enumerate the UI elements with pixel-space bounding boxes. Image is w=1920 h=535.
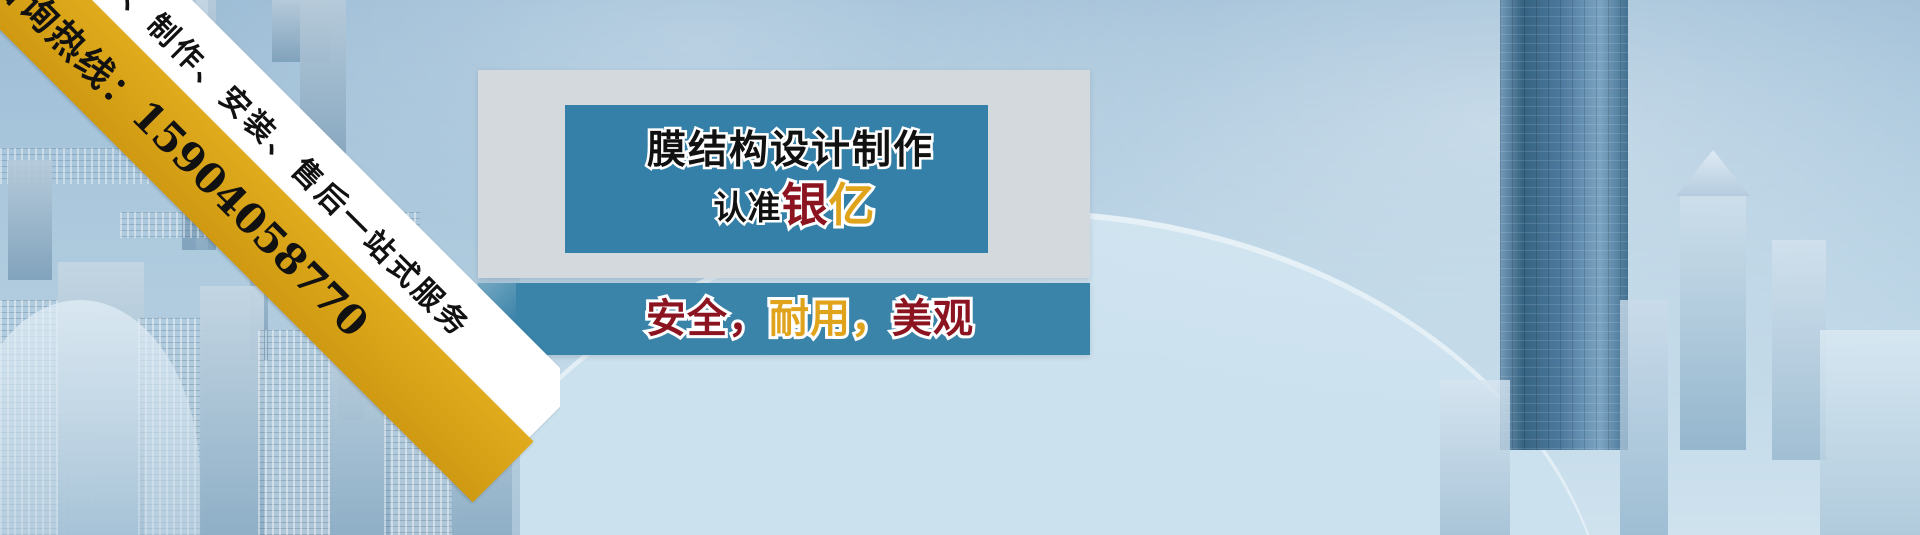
promo-banner: 膜结构设计制作 认准银亿 安全，耐用，美观 设计、制作、安装、售后一站式服务 咨… (0, 0, 1920, 535)
headline-panel: 膜结构设计制作 认准银亿 (565, 105, 988, 253)
headline-line-1: 膜结构设计制作 (647, 131, 934, 170)
slogan-part-2: 耐用， (769, 296, 892, 342)
brand-char-red: 银 (782, 178, 829, 232)
brand-char-gold: 亿 (829, 178, 876, 232)
slogan-part-1: 安全， (646, 296, 769, 342)
background-construction-left (0, 0, 520, 535)
headline-line-2: 认准银亿 (714, 182, 876, 228)
slogan-part-3: 美观 (892, 296, 974, 342)
slogan-text: 安全，耐用，美观 (646, 299, 974, 339)
slogan-strip: 安全，耐用，美观 (478, 283, 1090, 355)
headline-prefix: 认准 (714, 188, 782, 227)
background-skyscrapers-right (1320, 0, 1920, 535)
